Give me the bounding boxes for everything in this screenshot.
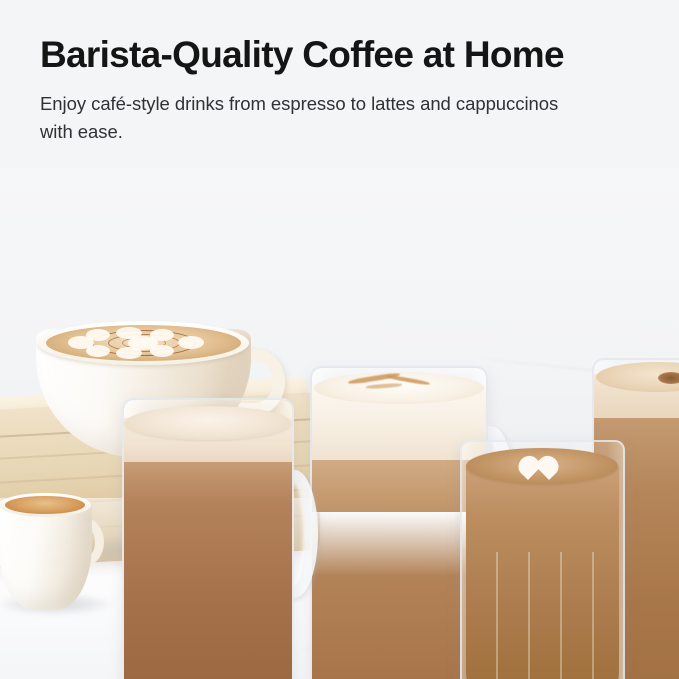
espresso-cup	[0, 485, 102, 611]
coffee-liquid	[124, 462, 292, 679]
glass-body	[122, 398, 294, 679]
banner-text-block: Barista-Quality Coffee at Home Enjoy caf…	[0, 0, 679, 146]
latte-mug-front-left	[122, 398, 312, 679]
page-title: Barista-Quality Coffee at Home	[40, 34, 649, 76]
crema-surface	[466, 448, 618, 484]
rosetta-latte-art	[66, 327, 221, 359]
heart-latte-art	[528, 461, 568, 483]
coffee-lifestyle-photo	[0, 168, 679, 679]
crema-surface	[5, 496, 85, 514]
cortado-tumbler	[460, 440, 625, 679]
foam-surface	[314, 372, 484, 404]
coffee-liquid	[466, 466, 619, 679]
banner-subtitle: Enjoy café-style drinks from espresso to…	[40, 90, 585, 146]
product-feature-banner: Barista-Quality Coffee at Home Enjoy caf…	[0, 0, 679, 679]
cocoa-dusting	[658, 372, 679, 384]
foam-surface	[125, 406, 291, 440]
